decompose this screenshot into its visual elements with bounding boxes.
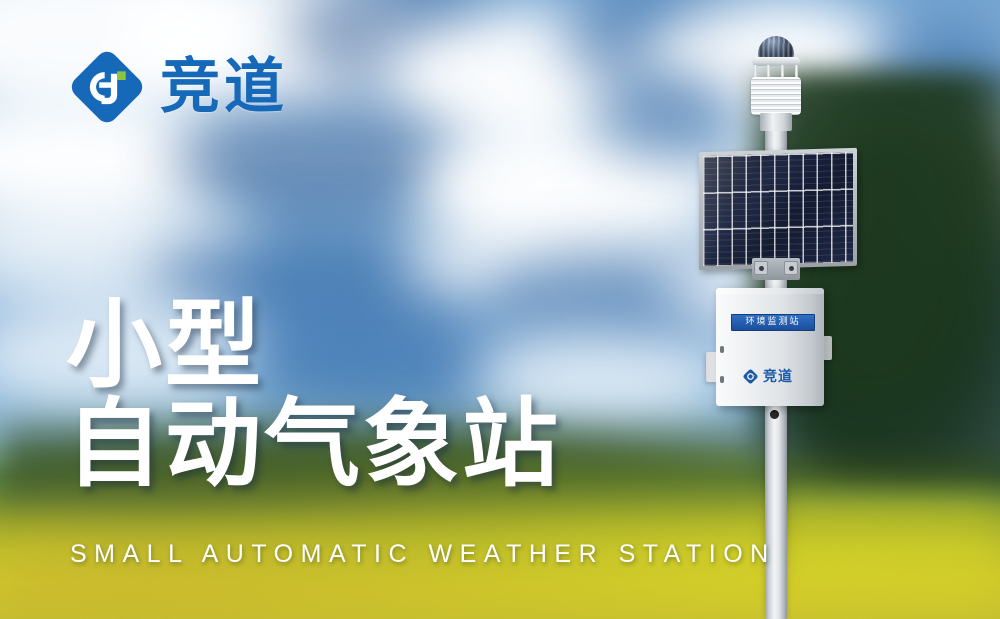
enclosure-screw xyxy=(720,346,724,353)
headline-line-2: 自动气象站 xyxy=(66,395,561,494)
enclosure-brand-logo: 竞道 xyxy=(742,368,793,385)
hero-banner: 环境监测站 竞道 xyxy=(0,0,1000,619)
hero-subtitle: SMALL AUTOMATIC WEATHER STATION xyxy=(70,540,776,569)
enclosure-screw xyxy=(720,376,724,383)
brand-logo[interactable]: 竞道 xyxy=(68,48,288,126)
headline-line-1: 小型 xyxy=(66,296,561,395)
ultrasonic-weather-sensor-icon xyxy=(740,36,812,128)
mount-lug xyxy=(784,261,798,275)
enclosure-brand-text: 竞道 xyxy=(763,370,793,384)
hero-headline: 小型 自动气象站 xyxy=(66,296,561,494)
sensor-base xyxy=(760,113,792,131)
radiation-shield xyxy=(751,77,801,115)
solar-panel-mount xyxy=(752,258,800,280)
enclosure-banner-label: 环境监测站 xyxy=(731,314,815,331)
jingdao-diamond-logo-icon xyxy=(742,368,759,385)
jingdao-diamond-logo-icon xyxy=(68,48,146,126)
solar-cells xyxy=(703,152,853,266)
data-logger-enclosure xyxy=(716,288,824,406)
brand-name: 竞道 xyxy=(160,57,288,117)
solar-panel xyxy=(699,148,857,270)
mount-lug xyxy=(754,261,768,275)
enclosure-banner-text: 环境监测站 xyxy=(745,318,800,327)
mast-cable-hole xyxy=(770,410,779,419)
